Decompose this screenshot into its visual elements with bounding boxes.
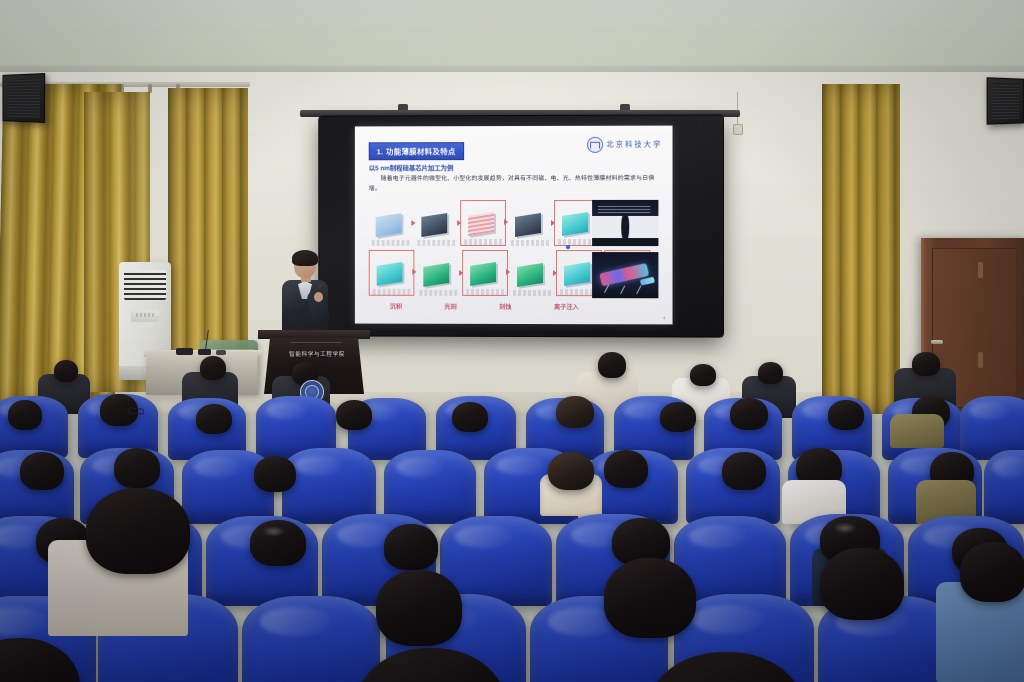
ac-vent-grill bbox=[124, 270, 166, 300]
university-logo: 北京科技大学 bbox=[587, 137, 662, 153]
audience-member-head bbox=[200, 356, 226, 380]
presenter-hand bbox=[314, 292, 323, 302]
chip-block bbox=[421, 213, 447, 237]
presenter-hair bbox=[292, 250, 318, 266]
hanging-cord bbox=[737, 92, 738, 126]
audience-member-head bbox=[250, 520, 306, 566]
ac-brand-logo bbox=[136, 313, 154, 317]
annotation-pointer bbox=[636, 285, 641, 293]
diagram-step bbox=[414, 202, 458, 246]
step-caption bbox=[417, 240, 455, 246]
audience-member-head bbox=[114, 448, 160, 488]
seat[interactable] bbox=[984, 450, 1024, 524]
diagram-bullet-dot bbox=[566, 245, 570, 249]
audience-member-head bbox=[452, 402, 488, 432]
audience-member-head bbox=[86, 488, 190, 574]
process-label-deposition: 沉积 bbox=[390, 302, 402, 311]
audience-member-head bbox=[20, 452, 64, 490]
audience-member-head bbox=[730, 398, 768, 430]
slide-title: 1. 功能薄膜材料及特点 bbox=[369, 142, 464, 160]
chip-block bbox=[377, 262, 403, 286]
nanostructure-image-bottom bbox=[592, 252, 658, 298]
audience-member-head bbox=[336, 400, 372, 430]
seat[interactable] bbox=[282, 448, 376, 524]
micrograph-fin-structure bbox=[621, 214, 629, 240]
chip-block bbox=[517, 263, 543, 287]
audience-member-head bbox=[820, 548, 904, 620]
audience-member-head bbox=[912, 352, 940, 376]
lecture-hall-scene: 1. 功能薄膜材料及特点 北京科技大学 以5 nm制程硅基芯片加工为例 随着电子… bbox=[0, 0, 1024, 682]
podium-trim-line bbox=[290, 342, 342, 343]
door-hinge bbox=[978, 262, 983, 278]
audience-member-head bbox=[690, 364, 716, 386]
door-handle[interactable] bbox=[931, 340, 943, 344]
ceiling-speaker-right-icon bbox=[987, 77, 1024, 124]
speaker-grill bbox=[7, 78, 40, 117]
process-label-etching: 刻蚀 bbox=[499, 302, 511, 311]
diagram-step bbox=[416, 252, 460, 296]
chip-block bbox=[423, 263, 449, 287]
chip-block bbox=[470, 262, 496, 286]
presentation-slide: 1. 功能薄膜材料及特点 北京科技大学 以5 nm制程硅基芯片加工为例 随着电子… bbox=[355, 126, 673, 325]
seat[interactable] bbox=[242, 596, 380, 682]
chip-block bbox=[468, 212, 494, 236]
ceiling-speaker-left-icon bbox=[2, 73, 45, 123]
audience-member-head bbox=[660, 402, 696, 432]
step-caption bbox=[513, 290, 551, 296]
slide-subtitle: 以5 nm制程硅基芯片加工为例 bbox=[369, 163, 454, 172]
step-caption bbox=[419, 290, 457, 296]
audience-member-head bbox=[828, 400, 864, 430]
diagram-step-highlighted bbox=[369, 250, 415, 296]
step-caption bbox=[464, 239, 502, 245]
speaker-grill bbox=[992, 83, 1020, 120]
step-caption bbox=[558, 239, 596, 245]
hanging-cord-plug bbox=[733, 124, 743, 135]
slide-body-text: 随着电子元器件的微型化、小型化的发展趋势，对具有不同磁、电、光、热特性薄膜材料的… bbox=[369, 174, 659, 194]
audience-member-head bbox=[758, 362, 783, 384]
electron-micrograph-top bbox=[592, 200, 658, 246]
diagram-step bbox=[510, 252, 554, 296]
annotation-pointer bbox=[620, 285, 625, 293]
nanowire-tip bbox=[640, 277, 655, 286]
step-caption bbox=[373, 289, 411, 295]
seat[interactable] bbox=[384, 450, 476, 524]
process-label-implant: 离子注入 bbox=[554, 302, 579, 311]
audience-member-head bbox=[54, 360, 78, 382]
diagram-step-highlighted bbox=[462, 250, 508, 296]
audience-member-head bbox=[556, 396, 594, 428]
audience-member-head bbox=[604, 558, 696, 638]
audience-member-head bbox=[604, 450, 648, 488]
university-name: 北京科技大学 bbox=[606, 140, 662, 150]
ceiling bbox=[0, 0, 1024, 72]
micrograph-scale-lines bbox=[598, 204, 650, 213]
diagram-step bbox=[369, 202, 413, 246]
audience-member-head bbox=[8, 400, 42, 430]
step-caption bbox=[372, 240, 410, 246]
audience-area bbox=[0, 352, 1024, 682]
process-label-row: 沉积 光刻 刻蚀 离子注入 bbox=[369, 302, 600, 312]
process-flow-diagram bbox=[369, 200, 659, 298]
audience-member-torso bbox=[890, 414, 944, 448]
step-caption bbox=[466, 289, 504, 295]
diagram-step bbox=[508, 202, 552, 246]
chip-block bbox=[564, 262, 590, 286]
podium-top bbox=[258, 330, 370, 339]
audience-member-head bbox=[722, 452, 766, 490]
projection-screen: 1. 功能薄膜材料及特点 北京科技大学 以5 nm制程硅基芯片加工为例 随着电子… bbox=[319, 115, 723, 336]
audience-member-head bbox=[254, 456, 296, 492]
chip-block bbox=[515, 213, 541, 237]
chip-block bbox=[376, 213, 402, 237]
slide-page-number: 4 bbox=[663, 315, 666, 320]
audience-member-head bbox=[376, 570, 462, 646]
university-crest-icon bbox=[587, 137, 603, 153]
step-caption bbox=[511, 240, 549, 246]
audience-member-head bbox=[960, 542, 1024, 602]
process-label-lithography: 光刻 bbox=[444, 302, 456, 311]
audience-member-head bbox=[384, 524, 438, 570]
audience-member-head bbox=[196, 404, 232, 434]
audience-member-head bbox=[548, 452, 594, 490]
diagram-step-highlighted bbox=[460, 200, 506, 246]
chip-block bbox=[562, 212, 588, 236]
audience-member-head bbox=[598, 352, 626, 378]
